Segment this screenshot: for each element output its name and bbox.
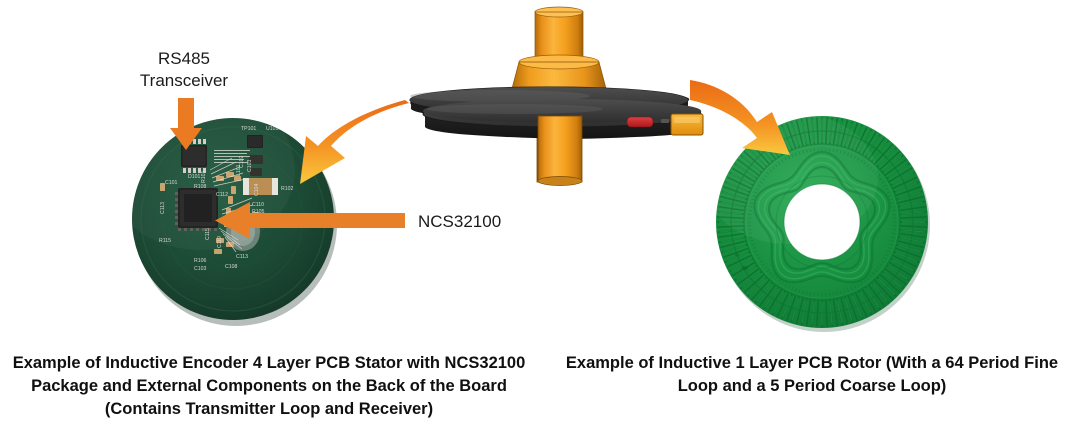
assembly-small-component xyxy=(661,119,669,123)
svg-text:C108: C108 xyxy=(225,264,238,270)
caption-stator: Example of Inductive Encoder 4 Layer PCB… xyxy=(4,352,534,421)
assembly-lower-shaft-front xyxy=(538,116,582,186)
svg-text:C103: C103 xyxy=(194,266,207,272)
rs485-label-line1: RS485 xyxy=(158,49,210,68)
caption-rotor: Example of Inductive 1 Layer PCB Rotor (… xyxy=(556,352,1068,398)
rs485-label-line2: Transceiver xyxy=(140,71,228,90)
rotor-gloss xyxy=(702,112,878,244)
rs485-transceiver-label: RS485 Transceiver xyxy=(124,48,244,92)
assembly-connector xyxy=(671,114,703,135)
svg-text:R106: R106 xyxy=(194,258,207,264)
svg-text:C113: C113 xyxy=(236,254,248,260)
assembly-red-component xyxy=(627,117,653,127)
ncs32100-label: NCS32100 xyxy=(418,212,501,232)
